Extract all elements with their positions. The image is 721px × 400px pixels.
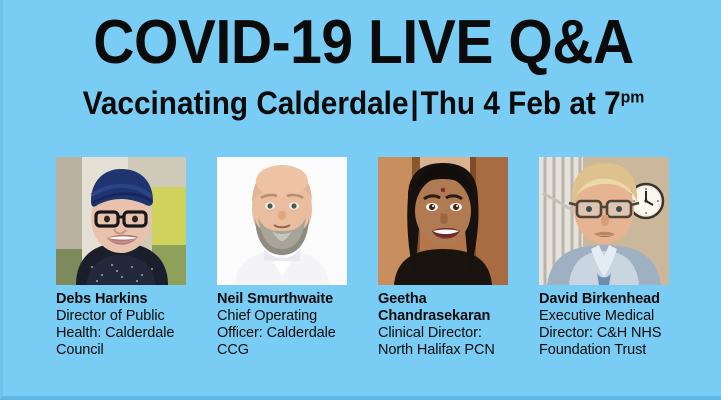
photo-david-birkenhead xyxy=(539,157,669,285)
subtitle-event: Vaccinating Calderdale xyxy=(83,85,409,121)
panelist-name: Debs Harkins xyxy=(56,291,186,308)
panelist-name: Geetha Chandrasekaran xyxy=(378,291,508,325)
panelist-card: David Birkenhead Executive Medical Direc… xyxy=(539,157,669,359)
subtitle-datetime: Thu 4 Feb at 7 xyxy=(421,85,621,121)
portrait-illustration xyxy=(539,157,669,285)
photo-neil-smurthwaite xyxy=(217,157,347,285)
portrait-illustration xyxy=(378,157,508,285)
panelist-card: Neil Smurthwaite Chief Operating Officer… xyxy=(217,157,347,359)
photo-debs-harkins xyxy=(56,157,186,285)
panelist-role: Chief Operating Officer: Calderdale CCG xyxy=(217,308,347,359)
subtitle-meridiem: pm xyxy=(621,87,645,106)
panelist-card: Geetha Chandrasekaran Clinical Director:… xyxy=(378,157,508,359)
covid-qa-poster: COVID-19 LIVE Q&A Vaccinating Calderdale… xyxy=(0,0,721,400)
panelist-role: Clinical Director: North Halifax PCN xyxy=(378,325,508,359)
panelist-caption: David Birkenhead Executive Medical Direc… xyxy=(539,291,669,359)
portrait-illustration xyxy=(56,157,186,285)
subtitle: Vaccinating Calderdale|Thu 4 Feb at 7pm xyxy=(28,84,699,122)
panelist-caption: Debs Harkins Director of Public Health: … xyxy=(56,291,186,359)
panelist-role: Executive Medical Director: C&H NHS Foun… xyxy=(539,308,669,359)
portrait-illustration xyxy=(217,157,347,285)
page-title: COVID-19 LIVE Q&A xyxy=(32,8,695,78)
panelist-row: Debs Harkins Director of Public Health: … xyxy=(56,157,671,387)
panelist-card: Debs Harkins Director of Public Health: … xyxy=(56,157,186,359)
panelist-caption: Geetha Chandrasekaran Clinical Director:… xyxy=(378,291,508,359)
subtitle-separator: | xyxy=(408,85,420,121)
panelist-caption: Neil Smurthwaite Chief Operating Officer… xyxy=(217,291,347,359)
panelist-name: David Birkenhead xyxy=(539,291,669,308)
panelist-role: Director of Public Health: Calderdale Co… xyxy=(56,308,186,359)
photo-geetha-chandrasekaran xyxy=(378,157,508,285)
panelist-name: Neil Smurthwaite xyxy=(217,291,347,308)
headline-block: COVID-19 LIVE Q&A Vaccinating Calderdale… xyxy=(3,8,721,122)
